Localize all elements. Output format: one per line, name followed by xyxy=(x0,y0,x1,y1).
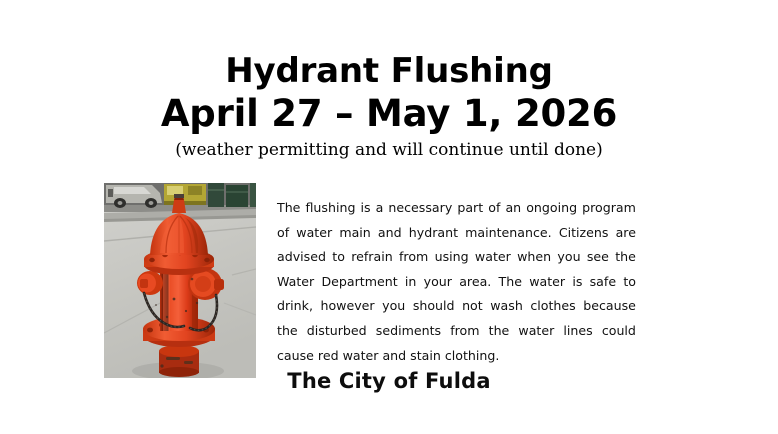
hydrant-flushing-flyer: Hydrant Flushing April 27 – May 1, 2026 … xyxy=(0,0,778,434)
paragraph-line: thedisturbedsedimentsfromthewaterlinesco… xyxy=(277,319,636,344)
paragraph-line: drink,howeveryoushouldnotwashclothesbeca… xyxy=(277,294,636,319)
page-title: Hydrant Flushing xyxy=(0,52,778,90)
paragraph-line: ofwatermainandhydrantmaintenance.Citizen… xyxy=(277,221,636,246)
paragraph-line: advisedtorefrainfromusingwaterwhenyousee… xyxy=(277,245,636,270)
heading-block: Hydrant Flushing April 27 – May 1, 2026 … xyxy=(0,52,778,161)
date-range-title: April 27 – May 1, 2026 xyxy=(0,92,778,136)
weather-disclaimer: (weather permitting and will continue un… xyxy=(0,139,778,161)
notice-paragraph: Theflushingisanecessarypartofanongoingpr… xyxy=(277,196,636,368)
paragraph-line: WaterDepartmentinyourarea.Thewaterissafe… xyxy=(277,270,636,295)
paragraph-line: Theflushingisanecessarypartofanongoingpr… xyxy=(277,196,636,221)
fire-hydrant-photo xyxy=(104,183,256,378)
fire-hydrant-illustration xyxy=(104,183,256,378)
organization-name: The City of Fulda xyxy=(0,368,778,394)
paragraph-line: cause red water and stain clothing. xyxy=(277,344,636,369)
